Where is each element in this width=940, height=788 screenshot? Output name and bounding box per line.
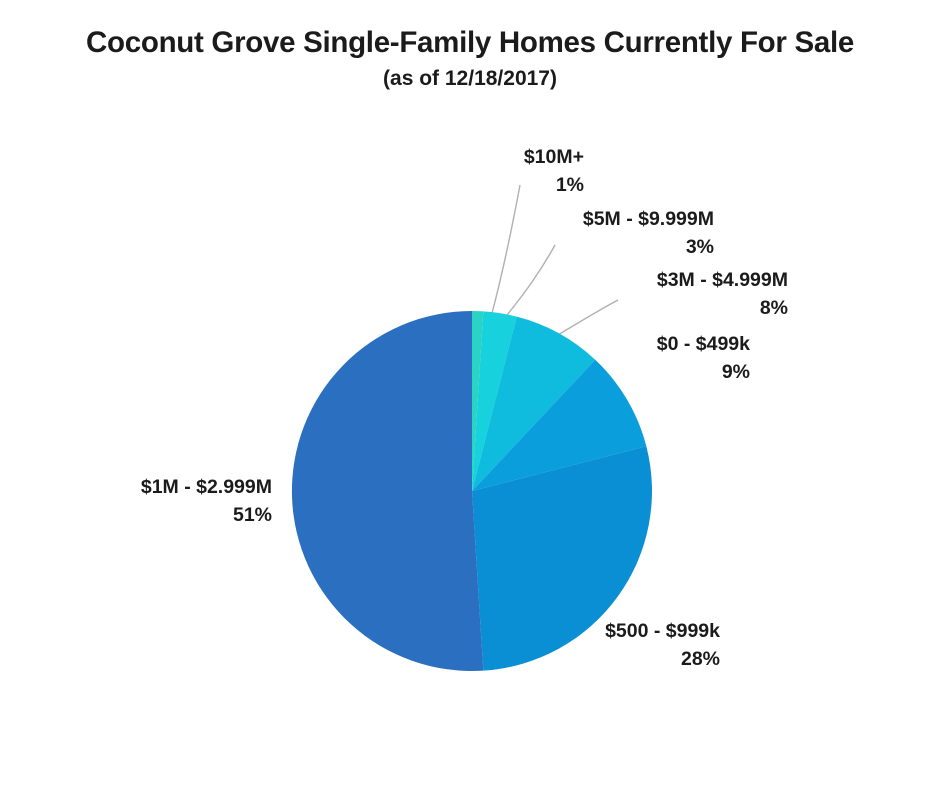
slice-label-value: 3% (354, 233, 714, 261)
slice-label-3m-4999m: $3M - $4.999M 8% (414, 266, 788, 323)
slice-label-value: 9% (444, 358, 750, 386)
slice-label-name: $10M+ (334, 143, 584, 171)
slice-label-500-999k: $500 - $999k 28% (420, 617, 720, 674)
slice-label-name: $5M - $9.999M (354, 205, 714, 233)
slice-label-name: $500 - $999k (420, 617, 720, 645)
slice-label-value: 28% (420, 645, 720, 673)
slice-label-value: 51% (0, 501, 272, 529)
pie-chart-figure: Coconut Grove Single-Family Homes Curren… (0, 0, 940, 788)
slice-label-name: $3M - $4.999M (414, 266, 788, 294)
slice-label-10m-plus: $10M+ 1% (334, 143, 584, 200)
slice-label-value: 8% (414, 294, 788, 322)
slice-label-0-499k: $0 - $499k 9% (444, 330, 750, 387)
slice-label-value: 1% (334, 171, 584, 199)
slice-label-1m-2999m: $1M - $2.999M 51% (0, 473, 272, 530)
slice-label-name: $0 - $499k (444, 330, 750, 358)
slice-label-name: $1M - $2.999M (0, 473, 272, 501)
slice-label-5m-9999m: $5M - $9.999M 3% (354, 205, 714, 262)
